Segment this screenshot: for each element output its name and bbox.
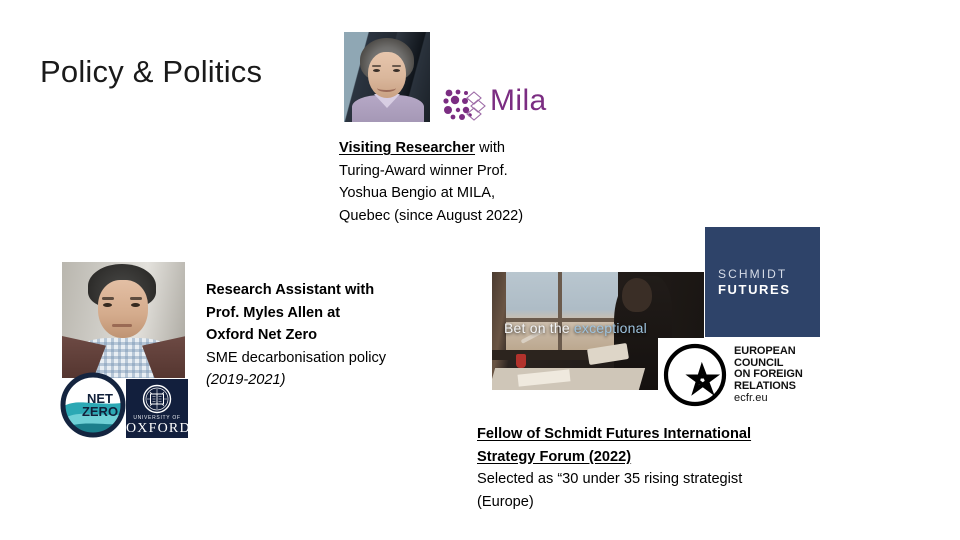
oxford-heading-line-2: Prof. Myles Allen at [206, 302, 456, 325]
mila-text-block: Visiting Researcher with Turing-Award wi… [339, 137, 607, 227]
mila-heading-line: Visiting Researcher with [339, 137, 607, 160]
photo-smile [377, 84, 396, 92]
page-title: Policy & Politics [40, 54, 262, 90]
oxford-heading-line-3: Oxford Net Zero [206, 324, 456, 347]
futures-body-line-2: (Europe) [477, 491, 845, 514]
mila-line-3: Yoshua Bengio at MILA, [339, 182, 607, 205]
slide-canvas: Policy & Politics [0, 0, 960, 540]
svg-text:ZERO: ZERO [82, 404, 118, 419]
photo-window-mullion-vertical [558, 272, 562, 350]
futures-heading-line-2: Strategy Forum (2022) [477, 446, 845, 469]
oxford-wordmark: OXFORD [126, 421, 188, 437]
photo-mouth [112, 324, 132, 327]
photo-tagline: Bet on the exceptional [504, 320, 704, 336]
ecfr-star-circle-icon [662, 342, 734, 414]
futures-body-line-1: Selected as “30 under 35 rising strategi… [477, 468, 845, 491]
photo-eye-right [393, 69, 400, 72]
oxford-net-zero-logo: NET ZERO [60, 372, 126, 438]
ecfr-line-4: RELATIONS [734, 381, 803, 393]
oxford-body-line-1: SME decarbonisation policy [206, 347, 456, 370]
mila-dots-icon [440, 84, 490, 124]
mila-line-4: Quebec (since August 2022) [339, 205, 607, 228]
photo-eyebrow-right [392, 65, 401, 67]
ecfr-wordmark: EUROPEAN COUNCIL ON FOREIGN RELATIONS ec… [734, 346, 803, 405]
oxford-crest-icon [142, 384, 172, 414]
university-of-oxford-logo: University of OXFORD [126, 379, 188, 438]
photo-tagline-accent: exceptional [574, 320, 647, 336]
schmidt-futures-logo: SCHMIDT FUTURES [705, 227, 820, 337]
photo-cup [516, 354, 526, 368]
photo-eye-left [373, 69, 380, 72]
photo-eye-left [103, 303, 112, 307]
mila-logo: Mila [440, 84, 548, 124]
photo-tagline-white: Bet on the [504, 320, 574, 336]
mila-line-2: Turing-Award winner Prof. [339, 160, 607, 183]
myles-allen-photo [62, 262, 185, 378]
ecfr-line-1: EUROPEAN [734, 346, 803, 358]
schmidt-wordmark-line-1: SCHMIDT [718, 267, 787, 281]
mila-heading-suffix: with [475, 140, 505, 156]
net-zero-icon: NET ZERO [60, 372, 126, 438]
yoshua-bengio-photo [344, 32, 430, 122]
photo-person-head [622, 278, 652, 312]
futures-heading-line-1: Fellow of Schmidt Futures International [477, 423, 845, 446]
ecfr-url: ecfr.eu [734, 392, 803, 405]
photo-eyebrow-left [102, 297, 114, 300]
futures-text-block: Fellow of Schmidt Futures International … [477, 423, 845, 513]
photo-face [98, 280, 148, 338]
schmidt-wordmark-line-2: FUTURES [718, 282, 791, 297]
photo-eyebrow-right [130, 297, 142, 300]
ecfr-logo: EUROPEAN COUNCIL ON FOREIGN RELATIONS ec… [658, 338, 832, 418]
mila-wordmark: Mila [490, 86, 547, 116]
mila-heading: Visiting Researcher [339, 140, 475, 156]
oxford-text-block: Research Assistant with Prof. Myles Alle… [206, 279, 456, 392]
photo-eye-right [131, 303, 140, 307]
oxford-heading-line-1: Research Assistant with [206, 279, 456, 302]
photo-eyebrow-left [372, 65, 381, 67]
oxford-body-line-2: (2019-2021) [206, 369, 456, 392]
